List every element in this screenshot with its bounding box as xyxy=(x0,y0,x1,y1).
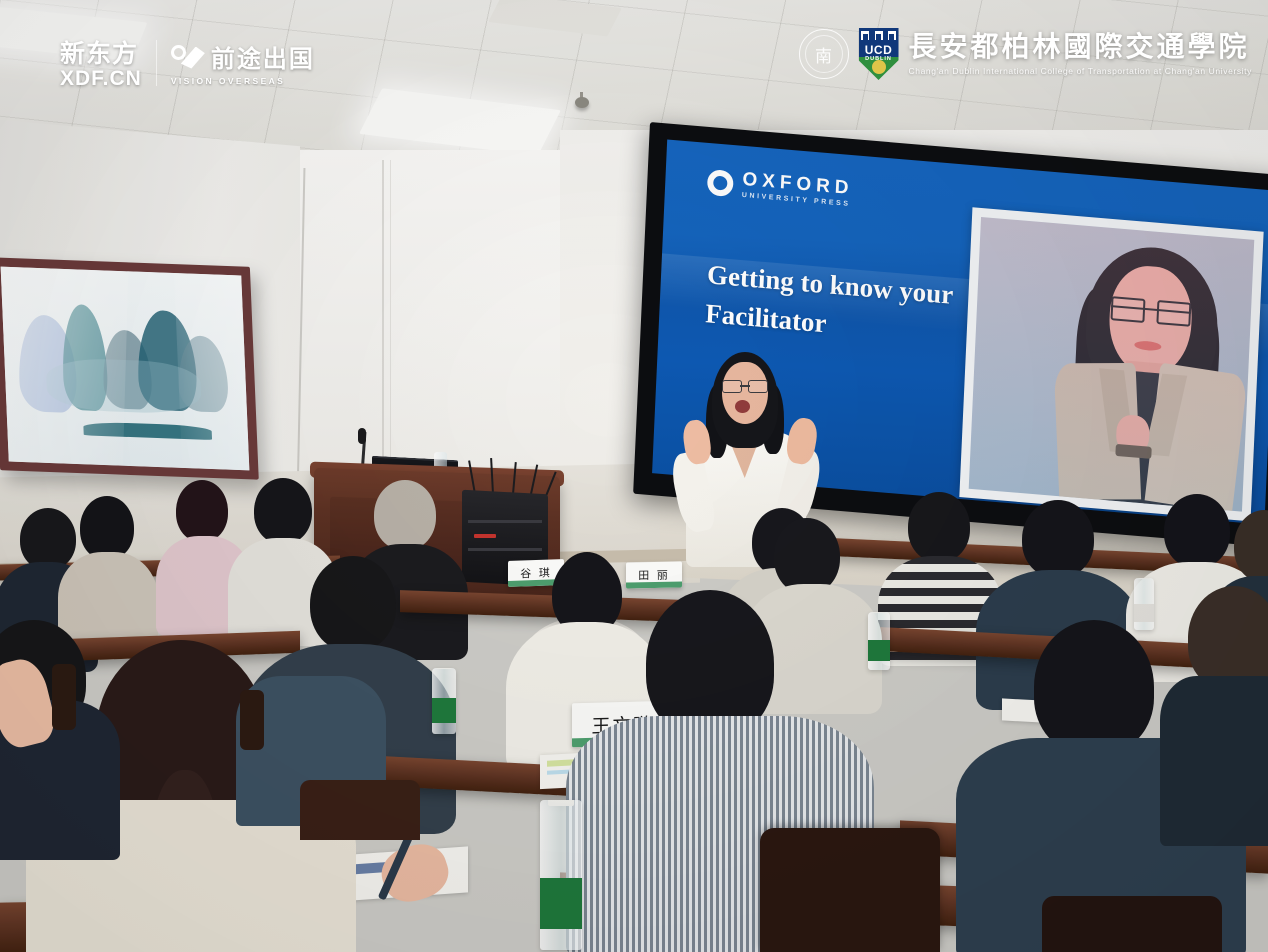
chair-arm xyxy=(240,690,264,750)
wall-seam xyxy=(382,160,384,460)
chair-back xyxy=(1042,896,1222,952)
wall-seam xyxy=(390,160,391,460)
water-bottle xyxy=(540,800,582,950)
water-bottle xyxy=(1134,578,1154,630)
oxford-ring-icon xyxy=(707,168,734,196)
slide-title: Getting to know your Facilitator xyxy=(704,255,997,357)
painting-glass-glare xyxy=(0,257,129,479)
framed-landscape-painting xyxy=(0,257,259,479)
facilitator-photo-frame xyxy=(959,207,1263,521)
facilitator-portrait xyxy=(969,217,1255,512)
smoke-detector-icon xyxy=(575,97,589,108)
chair-back xyxy=(300,780,420,840)
av-power-led xyxy=(474,534,496,538)
name-placard: 田 丽 xyxy=(626,562,682,589)
water-bottle xyxy=(432,668,456,734)
painting-glass-glare xyxy=(173,257,259,479)
water-bottle xyxy=(868,612,890,670)
oxford-university-press-logo: OXFORD UNIVERSITY PRESS xyxy=(707,167,854,208)
microphone-icon xyxy=(358,428,366,444)
chair-back xyxy=(760,828,940,952)
lecture-room-photo: OXFORD UNIVERSITY PRESS Getting to know … xyxy=(0,0,1268,952)
chair-arm xyxy=(52,664,76,730)
